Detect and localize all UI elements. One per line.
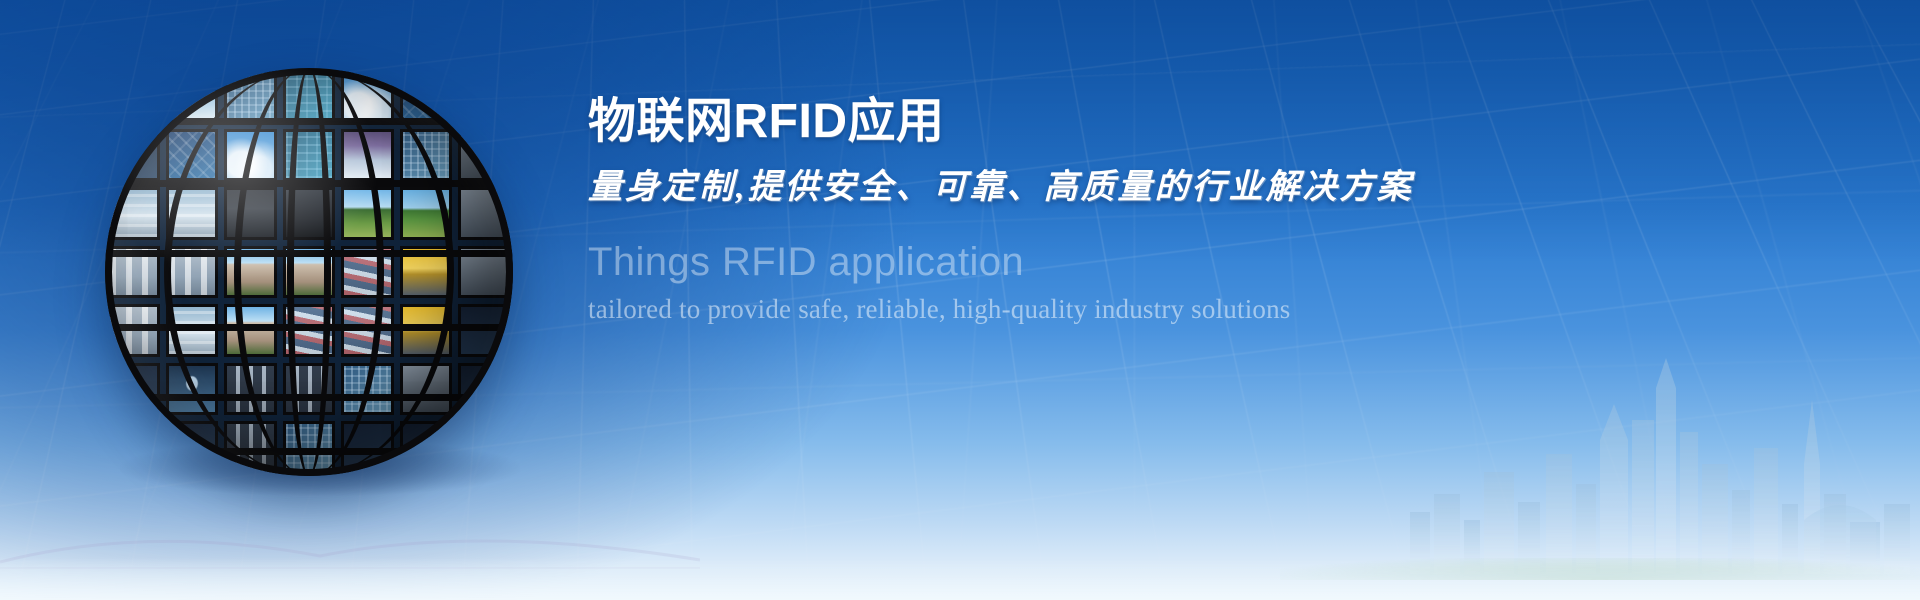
banner-subheadline-cn: 量身定制,提供安全、可靠、高质量的行业解决方案 (588, 167, 1888, 210)
banner-headline-en: Things RFID application (588, 239, 1888, 285)
globe-mosaic (105, 68, 513, 476)
bridge-silhouette-icon (0, 510, 700, 570)
photo-mosaic-globe-icon (105, 68, 513, 476)
banner-headline-cn: 物联网RFID应用 (588, 96, 1888, 149)
tree-line (1280, 558, 1920, 580)
rfid-hero-banner: 物联网RFID应用 量身定制,提供安全、可靠、高质量的行业解决方案 Things… (0, 0, 1920, 600)
city-skyline-icon (1400, 344, 1920, 574)
ground-fade (0, 558, 1920, 600)
banner-subheadline-en: tailored to provide safe, reliable, high… (588, 293, 1888, 327)
banner-copy: 物联网RFID应用 量身定制,提供安全、可靠、高质量的行业解决方案 Things… (588, 96, 1888, 327)
